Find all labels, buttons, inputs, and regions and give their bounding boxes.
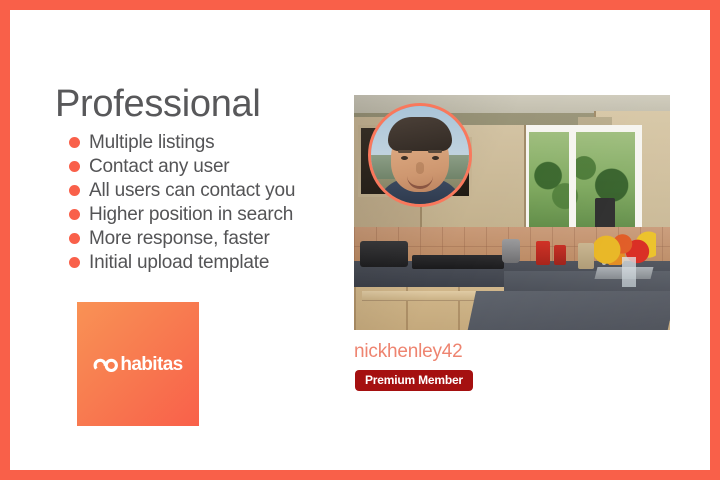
hair (388, 117, 452, 151)
page-title: Professional (55, 85, 345, 125)
window-mullion (569, 132, 576, 230)
list-item: Contact any user (69, 155, 345, 179)
kettle (502, 239, 520, 263)
garden-bin (595, 198, 615, 230)
garden-foliage (529, 150, 635, 215)
bullet-dot-icon (69, 161, 80, 172)
window (522, 125, 642, 237)
benefit-label: Contact any user (89, 156, 229, 178)
plan-details: Professional Multiple listings Contact a… (55, 85, 345, 275)
slide-canvas: Professional Multiple listings Contact a… (10, 10, 710, 470)
red-canister (536, 241, 550, 265)
cohabitas-logo: habitas (77, 302, 199, 426)
list-item: All users can contact you (69, 179, 345, 203)
eye-right (432, 156, 439, 160)
toaster (360, 241, 408, 267)
list-item: Higher position in search (69, 203, 345, 227)
utensil-pot (578, 243, 594, 269)
bullet-dot-icon (69, 209, 80, 220)
status-badge: Premium Member (355, 370, 473, 391)
red-canister-2 (554, 245, 566, 265)
bullet-dot-icon (69, 185, 80, 196)
gas-hob (412, 255, 504, 269)
avatar (368, 103, 472, 207)
logo-wordmark: habitas (93, 355, 182, 374)
nose (416, 162, 424, 174)
benefit-label: All users can contact you (89, 180, 295, 202)
glass-vase (622, 257, 636, 287)
benefit-list: Multiple listings Contact any user All u… (55, 131, 345, 275)
avatar-portrait (371, 106, 469, 204)
list-item: More response, faster (69, 227, 345, 251)
bullet-dot-icon (69, 257, 80, 268)
logo-text: habitas (120, 355, 182, 374)
benefit-label: Initial upload template (89, 252, 269, 274)
linked-circles-co-icon (93, 357, 119, 372)
benefit-label: Higher position in search (89, 204, 293, 226)
bullet-dot-icon (69, 233, 80, 244)
countertop-island (461, 291, 670, 330)
eye-left (401, 156, 408, 160)
bullet-dot-icon (69, 137, 80, 148)
list-item: Multiple listings (69, 131, 345, 155)
eyebrow-left (398, 150, 412, 153)
benefit-label: More response, faster (89, 228, 270, 250)
benefit-label: Multiple listings (89, 132, 214, 154)
eyebrow-right (428, 150, 442, 153)
username-link[interactable]: nickhenley42 (354, 341, 463, 363)
list-item: Initial upload template (69, 251, 345, 275)
